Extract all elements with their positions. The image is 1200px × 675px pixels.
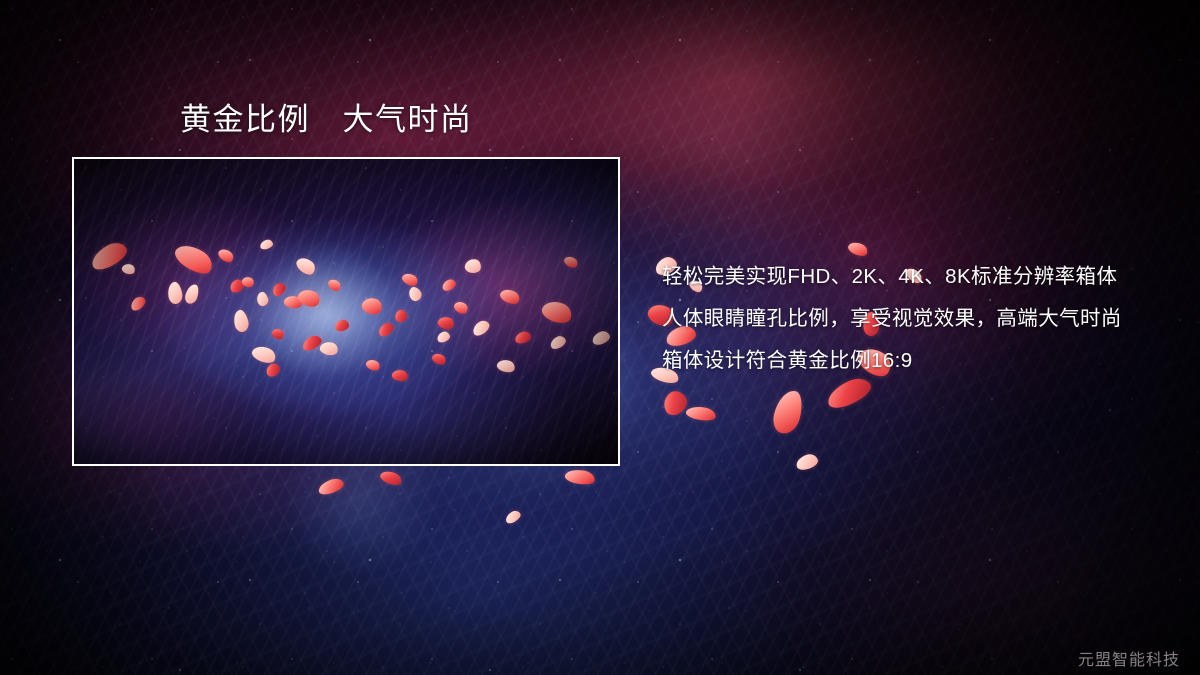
- slide-title: 黄金比例 大气时尚: [180, 100, 473, 140]
- presentation-slide: 黄金比例 大气时尚 轻松完美实现FHD、2K、4K、8K标准分辨率箱体 人体眼睛…: [0, 0, 1200, 675]
- body-line-2: 人体眼睛瞳孔比例，享受视觉效果，高端大气时尚: [662, 298, 1162, 340]
- flower-petal: [379, 468, 404, 487]
- body-text-block: 轻松完美实现FHD、2K、4K、8K标准分辨率箱体 人体眼睛瞳孔比例，享受视觉效…: [662, 256, 1162, 382]
- flower-petal: [770, 388, 806, 437]
- flower-petal: [504, 509, 523, 526]
- flower-petal: [564, 468, 596, 487]
- company-watermark: 元盟智能科技: [1078, 650, 1180, 672]
- flower-petal: [794, 452, 819, 472]
- flower-petal: [685, 404, 717, 422]
- inner-vignette: [74, 159, 618, 464]
- flower-petal: [317, 476, 346, 496]
- body-line-3: 箱体设计符合黄金比例16:9: [662, 340, 1162, 382]
- flower-petal: [659, 387, 691, 419]
- body-line-1: 轻松完美实现FHD、2K、4K、8K标准分辨率箱体: [662, 256, 1162, 298]
- galaxy-petals-image-frame: [72, 157, 620, 466]
